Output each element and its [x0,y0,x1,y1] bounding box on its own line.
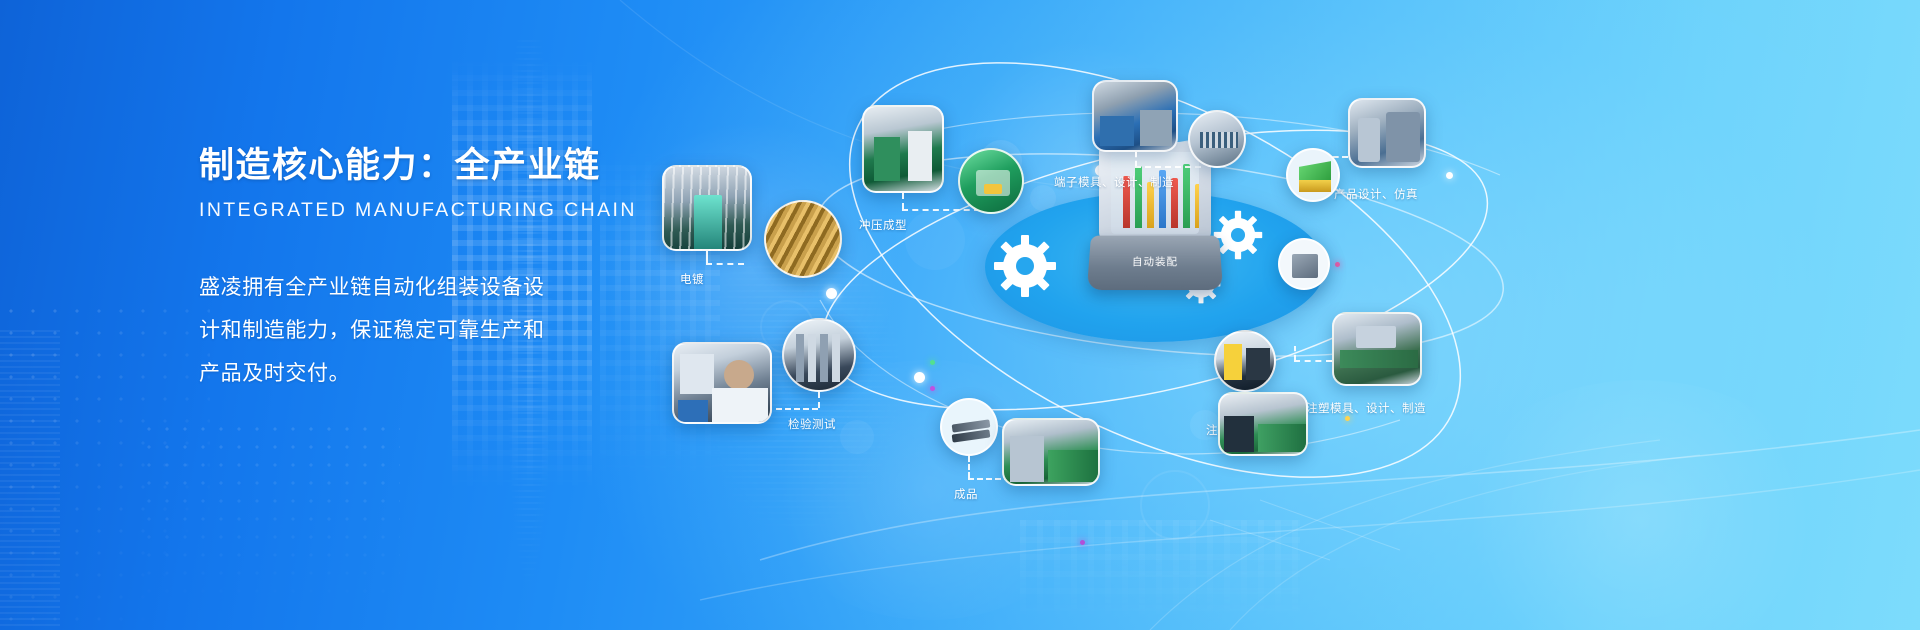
connector [818,392,820,408]
node-plating[interactable]: 电镀 [662,165,752,251]
injection-mold-photo [1332,312,1422,386]
banner-description: 盛凌拥有全产业链自动化组装设备设 计和制造能力，保证稳定可靠生产和 产品及时交付… [199,266,619,395]
machine-screen [1111,152,1199,234]
machine-base: 自动装配 [1087,236,1223,290]
node-assembly-line[interactable] [1002,418,1100,486]
terminal-mold-photo [1092,80,1178,152]
description-line: 产品及时交付。 [199,352,619,395]
node-product-design-detail[interactable] [1286,148,1340,202]
injection-molding-photo [1214,330,1276,392]
node-injection-molding[interactable]: 注塑成型 [1214,330,1276,392]
orbit-node-dot [826,288,837,299]
node-label: 电镀 [680,271,704,287]
node-stamping[interactable]: 冲压成型 [862,105,944,193]
node-label: 冲压成型 [859,217,907,233]
stamping-press-photo [958,148,1024,214]
dot-matrix-pattern [0,300,210,630]
assembly-line-photo [1002,418,1100,486]
dot-matrix-pattern [140,420,400,630]
node-stamping-detail[interactable] [958,148,1024,214]
connector [1135,152,1137,166]
central-hub: 自动装配 [985,192,1325,342]
manufacturing-banner: 制造核心能力：全产业链 INTEGRATED MANUFACTURING CHA… [0,0,1920,630]
node-product-design[interactable]: 产品设计、仿真 [1348,98,1426,168]
cad-model-photo [1286,148,1340,202]
terminal-die-photo [1188,110,1246,168]
stamping-photo [862,105,944,193]
injection-machine-photo [1218,392,1308,456]
node-injection-mold-detail[interactable] [1278,238,1330,290]
node-injection-machine[interactable] [1218,392,1308,456]
connector [706,263,744,265]
product-design-photo [1348,98,1426,168]
connector [1294,346,1296,360]
node-terminal-mold-detail[interactable] [1188,110,1246,168]
orbit-node-dot [914,372,925,383]
node-plating-detail[interactable] [764,200,842,278]
plating-rack-photo [764,200,842,278]
node-injection-mold[interactable]: 注塑模具、设计、制造 [1332,312,1422,386]
connector [1294,360,1332,362]
node-inspection-test[interactable]: 检验测试 [782,318,856,392]
banner-text-block: 制造核心能力：全产业链 INTEGRATED MANUFACTURING CHA… [199,145,619,395]
description-line: 计和制造能力，保证稳定可靠生产和 [199,309,619,352]
inspection-fixture-photo [782,318,856,392]
mold-part-photo [1278,238,1330,290]
connector [706,251,708,263]
node-label: 端子模具、设计、制造 [1054,174,1174,190]
description-line: 盛凌拥有全产业链自动化组装设备设 [199,266,619,309]
inspection-operator-photo [672,342,772,424]
manufacturing-chain-diagram: 自动装配 电镀 冲压成型 [640,0,1920,630]
connector [968,456,970,478]
node-label: 检验测试 [788,416,836,432]
plating-photo [662,165,752,251]
orbit-node-dot [1446,172,1453,179]
node-label: 产品设计、仿真 [1334,186,1418,202]
page-title: 制造核心能力：全产业链 [199,145,619,187]
node-finished-product[interactable]: 成品 [940,398,998,456]
center-label: 自动装配 [1088,254,1221,269]
stripe-pattern [0,330,60,630]
node-label: 成品 [954,486,978,502]
gear-icon [993,234,1057,298]
finished-product-photo [940,398,998,456]
connector [776,408,818,410]
page-subtitle: INTEGRATED MANUFACTURING CHAIN [199,199,619,222]
node-label: 注塑模具、设计、制造 [1306,400,1426,416]
connector [902,193,904,209]
node-terminal-mold[interactable]: 端子模具、设计、制造 [1092,80,1178,152]
node-inspection-operator[interactable] [672,342,772,424]
